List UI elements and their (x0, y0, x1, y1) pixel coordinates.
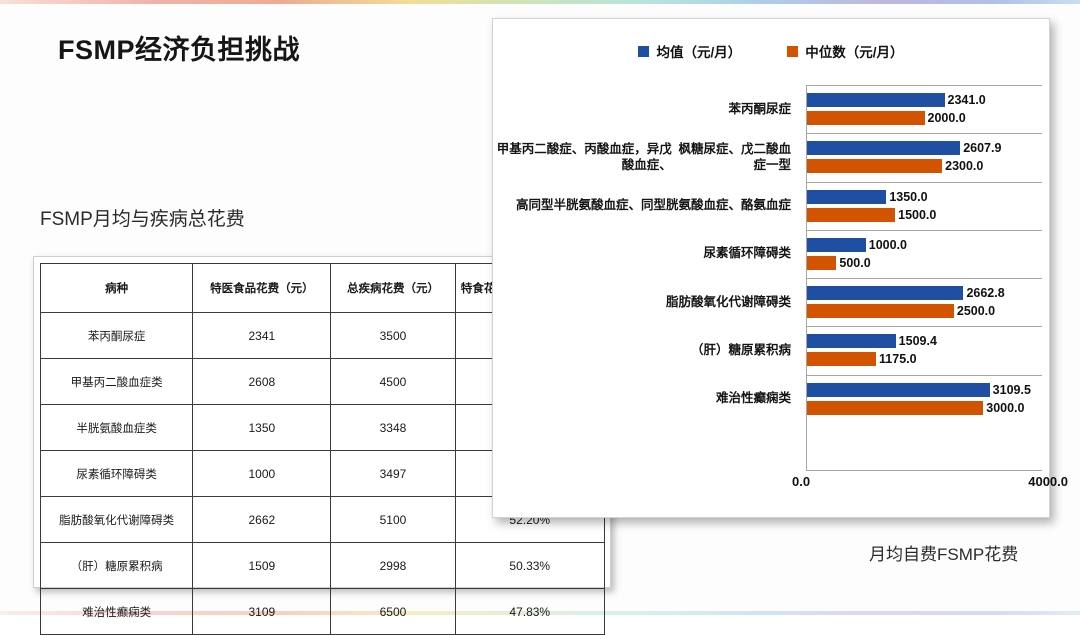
bar-mean-wrap: 2341.0 (807, 93, 1042, 107)
bar-median (807, 159, 942, 173)
plot-area: 2341.02000.02607.92300.01350.01500.01000… (806, 85, 1042, 496)
bar-median (807, 304, 954, 318)
bar-value-label: 2341.0 (945, 93, 986, 107)
category-label: 难治性癫痫类 (493, 375, 798, 423)
category-axis-labels: 苯丙酮尿症甲基丙二酸症、丙酸血症，异戊酸血症、枫糖尿症、戊二酸血症一型高同型半胱… (493, 85, 798, 471)
cell-total-cost: 5100 (331, 497, 455, 543)
legend-label-mean: 均值（元/月） (656, 41, 741, 61)
bar-median-wrap: 1175.0 (807, 352, 1042, 366)
cell-fsmp-cost: 1350 (193, 405, 331, 451)
cell-disease: 尿素循环障碍类 (41, 451, 193, 497)
value-axis: 0.0 4000.0 (806, 474, 1042, 489)
bar-median (807, 352, 876, 366)
bar-group: 1000.0500.0 (807, 231, 1042, 279)
category-label: 尿素循环障碍类 (493, 230, 798, 278)
bar-value-label: 1175.0 (876, 352, 917, 366)
top-gradient-bar (0, 0, 1080, 4)
page-title: FSMP经济负担挑战 (58, 28, 300, 67)
cell-disease: 苯丙酮尿症 (41, 313, 193, 359)
legend-label-median: 中位数（元/月） (805, 41, 903, 61)
bar-value-label: 2000.0 (925, 111, 966, 125)
bar-mean (807, 334, 896, 348)
table-caption: FSMP月均与疾病总花费 (40, 204, 245, 231)
bar-mean (807, 190, 886, 204)
axis-tick-max: 4000.0 (1028, 474, 1068, 489)
cell-fsmp-cost: 3109 (193, 589, 331, 635)
cell-disease: 难治性癫痫类 (41, 589, 193, 635)
bar-value-label: 1500.0 (895, 208, 936, 222)
bar-median-wrap: 2000.0 (807, 111, 1042, 125)
bar-value-label: 1000.0 (866, 238, 907, 252)
bar-median (807, 208, 895, 222)
cell-fsmp-cost: 2662 (193, 497, 331, 543)
chart-legend: 均值（元/月） 中位数（元/月） (493, 41, 1049, 61)
bar-group: 2341.02000.0 (807, 86, 1042, 134)
category-label: 高同型半胱氨酸血症、同型胱氨酸血症、酪氨血症 (493, 182, 798, 230)
cell-disease: （肝）糖原累积病 (41, 543, 193, 589)
cell-total-cost: 4500 (331, 359, 455, 405)
bar-mean-wrap: 1350.0 (807, 190, 1042, 204)
th-total-cost: 总疾病花费（元） (331, 264, 455, 313)
bar-mean (807, 383, 990, 397)
chart-card: 均值（元/月） 中位数（元/月） 苯丙酮尿症甲基丙二酸症、丙酸血症，异戊酸血症、… (492, 18, 1050, 518)
bar-value-label: 2662.8 (963, 286, 1004, 300)
cell-ratio: 50.33% (455, 543, 604, 589)
bar-value-label: 3109.5 (990, 383, 1031, 397)
table-row: （肝）糖原累积病1509299850.33% (41, 543, 605, 589)
cell-fsmp-cost: 2608 (193, 359, 331, 405)
bar-median-wrap: 2500.0 (807, 304, 1042, 318)
bar-median-wrap: 2300.0 (807, 159, 1042, 173)
bar-value-label: 1509.4 (896, 334, 937, 348)
th-fsmp-cost: 特医食品花费（元） (193, 264, 331, 313)
cell-total-cost: 6500 (331, 589, 455, 635)
bar-mean-wrap: 1509.4 (807, 334, 1042, 348)
bar-value-label: 2607.9 (960, 141, 1001, 155)
bar-group: 2662.82500.0 (807, 279, 1042, 327)
legend-swatch-mean (638, 46, 649, 57)
bar-mean (807, 93, 945, 107)
bar-group: 3109.53000.0 (807, 376, 1042, 424)
bar-median (807, 111, 925, 125)
bar-mean-wrap: 3109.5 (807, 383, 1042, 397)
cell-disease: 甲基丙二酸血症类 (41, 359, 193, 405)
bar-mean-wrap: 2662.8 (807, 286, 1042, 300)
bar-median (807, 256, 836, 270)
bar-group: 1509.41175.0 (807, 327, 1042, 375)
bar-value-label: 2500.0 (954, 304, 995, 318)
bar-value-label: 3000.0 (983, 401, 1024, 415)
chart-caption: 月均自费FSMP花费 (869, 540, 1018, 565)
cell-total-cost: 3348 (331, 405, 455, 451)
bar-median-wrap: 1500.0 (807, 208, 1042, 222)
category-label: 苯丙酮尿症 (493, 85, 798, 133)
cell-ratio: 47.83% (455, 589, 604, 635)
bar-chart: 均值（元/月） 中位数（元/月） 苯丙酮尿症甲基丙二酸症、丙酸血症，异戊酸血症、… (493, 19, 1049, 517)
category-label: （肝）糖原累积病 (493, 326, 798, 374)
cell-fsmp-cost: 1000 (193, 451, 331, 497)
cell-fsmp-cost: 2341 (193, 313, 331, 359)
table-row: 难治性癫痫类3109650047.83% (41, 589, 605, 635)
slide-canvas: FSMP经济负担挑战 FSMP月均与疾病总花费 病种 特医食品花费（元） 总疾病… (0, 0, 1080, 615)
th-disease: 病种 (41, 264, 193, 313)
bar-mean (807, 141, 960, 155)
cell-total-cost: 3500 (331, 313, 455, 359)
bar-mean (807, 286, 963, 300)
plot-box: 2341.02000.02607.92300.01350.01500.01000… (806, 85, 1042, 471)
cell-fsmp-cost: 1509 (193, 543, 331, 589)
bar-median (807, 401, 983, 415)
bar-mean-wrap: 2607.9 (807, 141, 1042, 155)
cell-disease: 半胱氨酸血症类 (41, 405, 193, 451)
bar-value-label: 2300.0 (942, 159, 983, 173)
axis-tick-min: 0.0 (792, 474, 810, 489)
legend-item-mean: 均值（元/月） (638, 41, 741, 61)
category-label: 甲基丙二酸症、丙酸血症，异戊酸血症、枫糖尿症、戊二酸血症一型 (493, 133, 798, 181)
bar-group: 2607.92300.0 (807, 134, 1042, 182)
cell-total-cost: 2998 (331, 543, 455, 589)
legend-item-median: 中位数（元/月） (787, 41, 903, 61)
bar-mean-wrap: 1000.0 (807, 238, 1042, 252)
bar-group: 1350.01500.0 (807, 183, 1042, 231)
bar-value-label: 500.0 (836, 256, 870, 270)
bar-median-wrap: 500.0 (807, 256, 1042, 270)
cell-total-cost: 3497 (331, 451, 455, 497)
legend-swatch-median (787, 46, 798, 57)
bar-value-label: 1350.0 (886, 190, 927, 204)
category-label: 脂肪酸氧化代谢障碍类 (493, 278, 798, 326)
cell-disease: 脂肪酸氧化代谢障碍类 (41, 497, 193, 543)
bar-median-wrap: 3000.0 (807, 401, 1042, 415)
bar-mean (807, 238, 866, 252)
